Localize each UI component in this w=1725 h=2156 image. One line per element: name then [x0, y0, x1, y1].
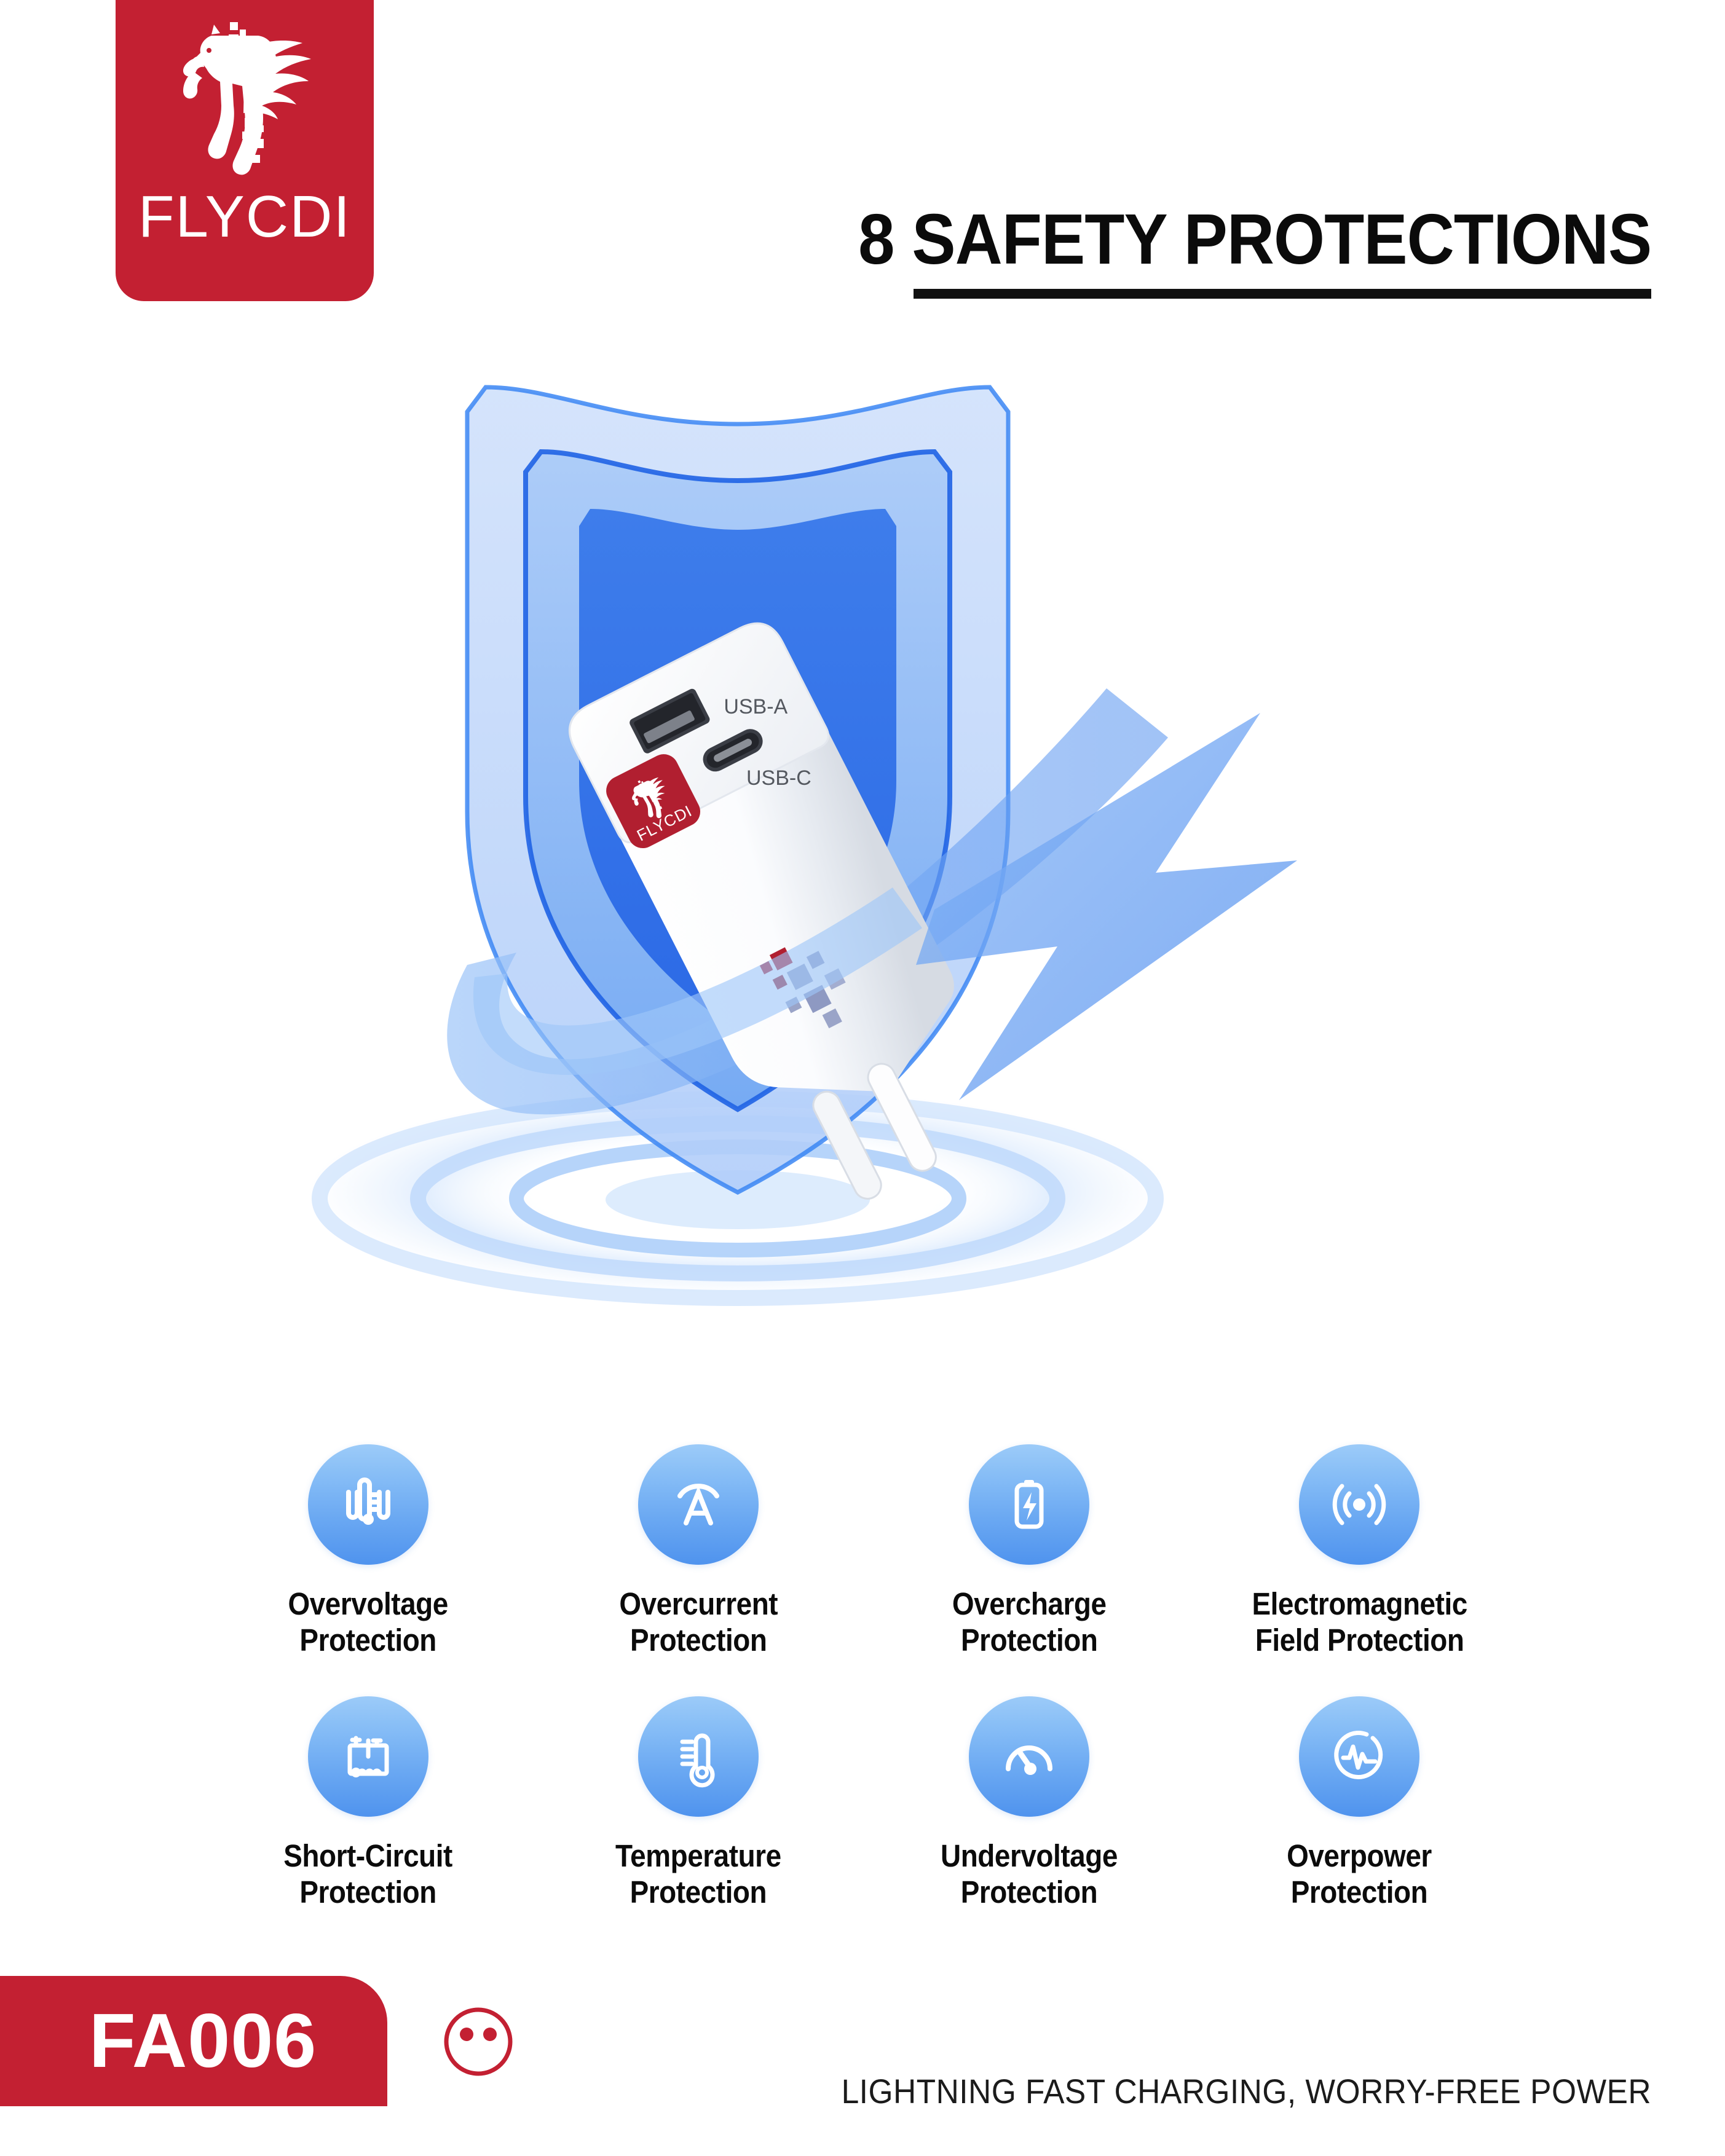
feature-short-circuit: Short-Circuit Protection	[203, 1696, 534, 1910]
title-block: 8 SAFETY PROTECTIONS	[789, 203, 1651, 299]
footer-tagline: LIGHTNING FAST CHARGING, WORRY-FREE POWE…	[841, 2071, 1651, 2111]
feature-label: Undervoltage Protection	[941, 1838, 1118, 1910]
undervoltage-icon	[969, 1696, 1089, 1817]
electromagnetic-field-icon	[1299, 1444, 1419, 1565]
feature-label: Overcurrent Protection	[619, 1586, 778, 1658]
feature-overcurrent: Overcurrent Protection	[534, 1444, 864, 1658]
title-underline	[914, 289, 1651, 299]
feature-undervoltage: Undervoltage Protection	[864, 1696, 1194, 1910]
overcharge-icon	[969, 1444, 1089, 1565]
temperature-icon	[638, 1696, 759, 1817]
feature-label: Electromagnetic Field Protection	[1252, 1586, 1467, 1658]
feature-temperature: Temperature Protection	[534, 1696, 864, 1910]
feature-label: Overvoltage Protection	[288, 1586, 448, 1658]
brand-wordmark: FLYCDI	[116, 183, 374, 251]
eu-plug-icon	[441, 2005, 515, 2079]
page-title: 8 SAFETY PROTECTIONS	[858, 203, 1651, 275]
pegasus-logo-icon	[152, 7, 337, 192]
usb-c-label: USB-C	[746, 766, 811, 790]
hero-illustration: USB-A USB-C FLYCDI	[0, 344, 1725, 1426]
feature-overcharge: Overcharge Protection	[864, 1444, 1194, 1658]
hero-product-visual: USB-A USB-C FLYCDI	[0, 344, 1725, 1426]
page-footer: FA006	[0, 1976, 1725, 2156]
feature-overpower: Overpower Protection	[1194, 1696, 1525, 1910]
model-number-tag: FA006	[0, 1976, 387, 2106]
overcurrent-icon	[638, 1444, 759, 1565]
page-header: FLYCDI 8 SAFETY PROTECTIONS	[0, 0, 1725, 344]
feature-label: Overpower Protection	[1287, 1838, 1432, 1910]
feature-label: Temperature Protection	[615, 1838, 781, 1910]
brand-logo-badge: FLYCDI	[116, 0, 374, 301]
feature-electromagnetic-field: Electromagnetic Field Protection	[1194, 1444, 1525, 1658]
usb-a-label: USB-A	[724, 695, 787, 718]
model-number: FA006	[0, 1997, 387, 2085]
short-circuit-icon	[308, 1696, 428, 1817]
safety-feature-grid: Overvoltage Protection Overcurrent Prote…	[203, 1444, 1525, 1911]
overpower-icon	[1299, 1696, 1419, 1817]
feature-overvoltage: Overvoltage Protection	[203, 1444, 534, 1658]
feature-label: Overcharge Protection	[952, 1586, 1106, 1658]
feature-label: Short-Circuit Protection	[283, 1838, 452, 1910]
overvoltage-icon	[308, 1444, 428, 1565]
